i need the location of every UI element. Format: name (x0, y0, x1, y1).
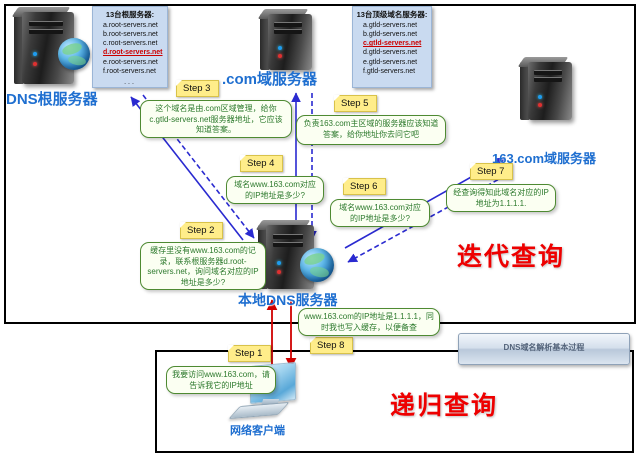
dns-resolution-diagram: 13台根服务器: a.root-servers.net b.root-serve… (0, 0, 640, 453)
root-list-entry: f.root-servers.net (96, 67, 164, 76)
gtld-list-entry-highlighted: c.gtld-servers.net (356, 39, 428, 48)
root-server-label: DNS根服务器 (6, 88, 98, 109)
root-list-ellipsis: ... (96, 76, 164, 87)
gtld-list-entry: b.gtld-servers.net (356, 30, 428, 39)
step-1-bubble: 我要访问www.163.com，请告诉我它的IP地址 (166, 366, 276, 394)
gtld-list-entry: e.gtld-servers.net (356, 58, 428, 67)
gtld-list-entry: f.gtld-servers.net (356, 67, 428, 76)
root-list-entry: a.root-servers.net (96, 21, 164, 30)
diagram-title-bar: DNS域名解析基本过程 (458, 333, 630, 365)
com-server-icon (268, 14, 312, 70)
step-5-tab[interactable]: Step 5 (334, 95, 377, 112)
gtld-list-entry: d.gtld-servers.net (356, 48, 428, 57)
root-list-entry: c.root-servers.net (96, 39, 164, 48)
domain-163-server-icon (528, 62, 572, 120)
step-6-bubble: 域名www.163.com对应的IP地址是多少? (330, 199, 430, 227)
step-2-tab[interactable]: Step 2 (180, 222, 223, 239)
step-8-tab[interactable]: Step 8 (310, 337, 353, 354)
diagram-title-text: DNS域名解析基本过程 (459, 342, 629, 353)
step-3-bubble: 这个域名是由.com区域管理，给你c.gtld-servers.net服务器地址… (140, 100, 292, 138)
step-7-bubble: 经查询得知此域名对应的IP地址为1.1.1.1. (446, 184, 556, 212)
root-list-entry: e.root-servers.net (96, 58, 164, 67)
recursive-query-label: 递归查询 (390, 386, 498, 422)
globe-icon (58, 38, 90, 70)
gtld-list-heading: 13台顶级域名服务器: (356, 10, 428, 20)
root-list-heading: 13台根服务器: (96, 10, 164, 20)
iterative-query-label: 迭代查询 (457, 237, 565, 273)
root-list-entry: b.root-servers.net (96, 30, 164, 39)
step-8-bubble: www.163.com的IP地址是1.1.1.1，同时我也写入缓存，以便备查 (298, 308, 440, 336)
client-label: 网络客户端 (230, 422, 285, 438)
step-6-tab[interactable]: Step 6 (343, 178, 386, 195)
root-server-list: 13台根服务器: a.root-servers.net b.root-serve… (92, 6, 168, 88)
com-server-label: .com域服务器 (222, 68, 317, 89)
step-5-bubble: 负责163.com主区域的服务器应该知道答案，给你地址你去问它吧 (296, 115, 446, 145)
step-2-bubble: 缓存里没有www.163.com的记录，联系根服务器d.root-servers… (140, 242, 266, 290)
step-3-tab[interactable]: Step 3 (176, 80, 219, 97)
globe-icon (300, 248, 334, 282)
step-4-tab[interactable]: Step 4 (240, 155, 283, 172)
gtld-server-list: 13台顶级域名服务器: a.gtld-servers.net b.gtld-se… (352, 6, 432, 88)
step-4-bubble: 域名www.163.com对应的IP地址是多少? (226, 176, 324, 204)
gtld-list-entry: a.gtld-servers.net (356, 21, 428, 30)
root-list-entry-highlighted: d.root-servers.net (96, 48, 164, 57)
step-7-tab[interactable]: Step 7 (470, 163, 513, 180)
local-dns-server-label: 本地DNS服务器 (238, 290, 338, 310)
step-1-tab[interactable]: Step 1 (228, 345, 271, 362)
